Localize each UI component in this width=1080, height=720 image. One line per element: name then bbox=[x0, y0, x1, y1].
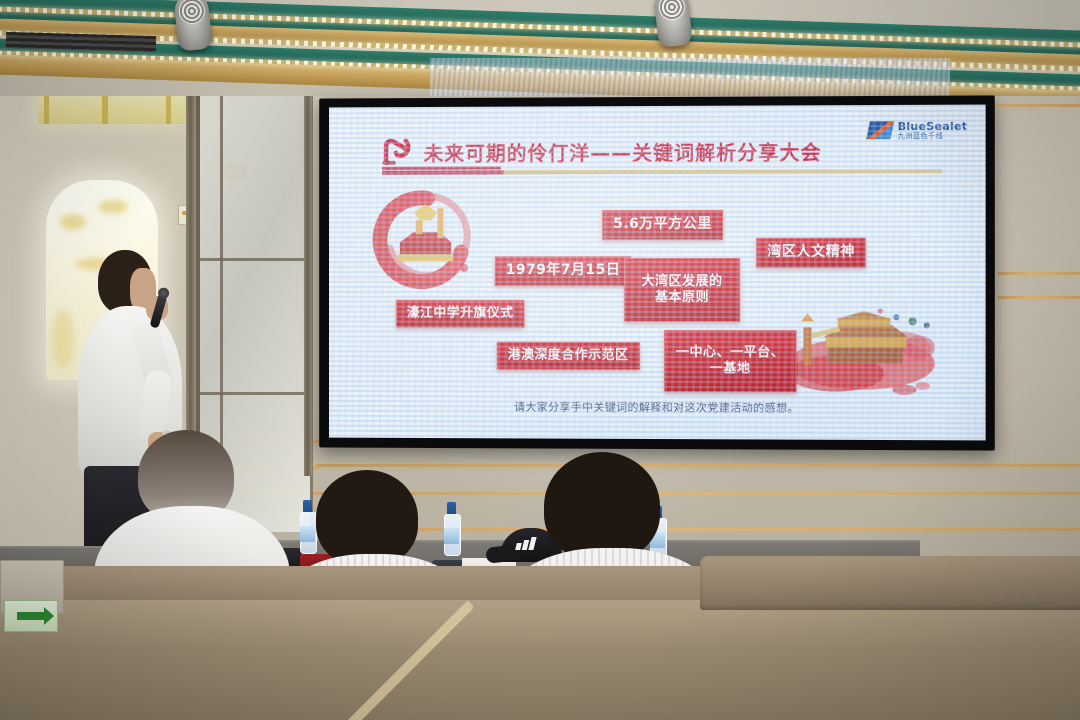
slide-surface: 未来可期的伶仃洋——关键词解析分享大会 BlueSealet 九洲蓝色千线 5.… bbox=[329, 105, 986, 441]
brand-logo-text: BlueSealet 九洲蓝色千线 bbox=[898, 121, 968, 140]
deco-red-circle-gate-icon bbox=[370, 190, 481, 294]
keyword-chip-one-center[interactable]: 一中心、一平台、 一基地 bbox=[664, 330, 796, 392]
exit-arrow-icon bbox=[17, 612, 45, 620]
window-reflection bbox=[98, 200, 128, 214]
exit-sign bbox=[4, 600, 58, 632]
cpc-emblem-icon bbox=[380, 137, 414, 167]
attendee-head bbox=[544, 452, 660, 560]
ceiling-spotlight[interactable] bbox=[653, 0, 693, 48]
front-bench-back[interactable] bbox=[0, 600, 1080, 720]
microphone-head bbox=[157, 286, 171, 300]
ceiling-spotlight[interactable] bbox=[173, 0, 213, 52]
slide-title: 未来可期的伶仃洋——关键词解析分享大会 bbox=[424, 136, 822, 166]
brand-mark-icon bbox=[866, 121, 894, 139]
slide-title-row: 未来可期的伶仃洋——关键词解析分享大会 bbox=[380, 135, 821, 166]
slide-footer-note: 请大家分享手中关键词的解释和对这次党建活动的感想。 bbox=[388, 398, 928, 416]
wall-trim-line bbox=[998, 296, 1080, 299]
door-frame bbox=[304, 56, 312, 476]
keyword-chip-flag-ceremony[interactable]: 濠江中学升旗仪式 bbox=[396, 300, 525, 328]
screenshot-root: 未来可期的伶仃洋——关键词解析分享大会 BlueSealet 九洲蓝色千线 5.… bbox=[0, 0, 1080, 720]
brand-name-cn: 九洲蓝色千线 bbox=[898, 132, 968, 140]
keyword-chip-date[interactable]: 1979年7月15日 bbox=[495, 256, 631, 285]
ceiling-texture bbox=[430, 58, 950, 96]
keyword-chip-area[interactable]: 5.6万平方公里 bbox=[602, 210, 723, 240]
bench-chevron-trim bbox=[135, 600, 474, 720]
attendee-head bbox=[316, 470, 418, 566]
keyword-chip-culture[interactable]: 湾区人文精神 bbox=[756, 238, 866, 268]
led-video-wall[interactable]: 未来可期的伶仃洋——关键词解析分享大会 BlueSealet 九洲蓝色千线 5.… bbox=[319, 95, 995, 450]
keyword-chip-cooperation-zone[interactable]: 港澳深度合作示范区 bbox=[497, 342, 640, 370]
deco-watercolor-gate-icon bbox=[775, 289, 957, 400]
side-bench[interactable] bbox=[700, 556, 1080, 610]
wall-trim-line bbox=[998, 272, 1080, 275]
conference-room: 未来可期的伶仃洋——关键词解析分享大会 BlueSealet 九洲蓝色千线 5.… bbox=[0, 0, 1080, 720]
window-reflection bbox=[60, 214, 86, 230]
brand-name-en: BlueSealet bbox=[898, 121, 968, 133]
title-underline-accent bbox=[382, 166, 501, 169]
brand-logo: BlueSealet 九洲蓝色千线 bbox=[868, 121, 967, 140]
ceiling bbox=[0, 0, 1080, 96]
title-underline bbox=[382, 169, 942, 174]
keyword-chip-principles[interactable]: 大湾区发展的 基本原则 bbox=[624, 258, 740, 322]
